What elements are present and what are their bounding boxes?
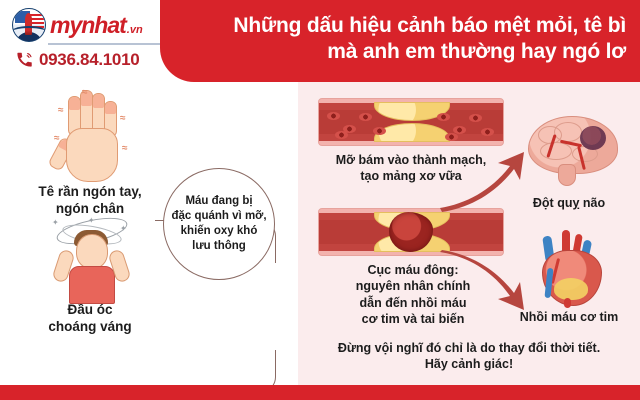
- bottom-accent-bar: [0, 385, 640, 400]
- infographic-poster: Những dấu hiệu cảnh báo mệt mỏi, tê bì m…: [0, 0, 640, 400]
- outcome-label-heart-attack: Nhồi máu cơ tim: [504, 310, 634, 324]
- phone-ringing-icon: [16, 51, 33, 68]
- dizzy-man-holding-head-icon: ✦ ✦ ✦: [42, 214, 138, 302]
- page-title: Những dấu hiệu cảnh báo mệt mỏi, tê bì m…: [233, 13, 626, 64]
- header-banner: Những dấu hiệu cảnh báo mệt mỏi, tê bì m…: [160, 0, 640, 82]
- logo-row[interactable]: mynhat.vn: [12, 8, 162, 42]
- symptom-item-dizziness: ✦ ✦ ✦ Đầu óc choáng váng: [6, 214, 174, 336]
- anatomical-heart-icon: [524, 228, 620, 308]
- globe-statue-of-liberty-icon: [12, 8, 46, 42]
- logo-tld: .vn: [127, 24, 143, 36]
- brain-stroke-icon: [524, 112, 620, 186]
- symptom-caption: Đầu óc choáng váng: [6, 302, 174, 336]
- central-callout: Máu đang bị đặc quánh vì mỡ, khiến oxy k…: [163, 168, 275, 280]
- phone-number: 0936.84.1010: [39, 50, 139, 70]
- brand-divider: [48, 43, 160, 45]
- phone-row[interactable]: 0936.84.1010: [16, 50, 162, 70]
- open-hand-tingling-icon: ≈ ≈ ≈ ≈ ≈: [42, 88, 138, 184]
- outcome-label-stroke: Đột quỵ não: [510, 196, 628, 210]
- central-callout-text: Máu đang bị đặc quánh vì mỡ, khiến oxy k…: [171, 194, 266, 255]
- symptom-caption: Tê rần ngón tay, ngón chân: [6, 184, 174, 218]
- arrow-to-heart-icon: [436, 248, 528, 314]
- artery-with-plaque-icon: [318, 98, 504, 146]
- symptom-item-tingling: ≈ ≈ ≈ ≈ ≈ Tê rần ngón tay, ngón chân: [6, 88, 174, 218]
- brand-block: mynhat.vn 0936.84.1010: [12, 8, 162, 70]
- logo-wordmark: mynhat: [50, 12, 126, 38]
- footer-warning-text: Đừng vội nghĩ đó chỉ là do thay đổi thời…: [300, 340, 638, 373]
